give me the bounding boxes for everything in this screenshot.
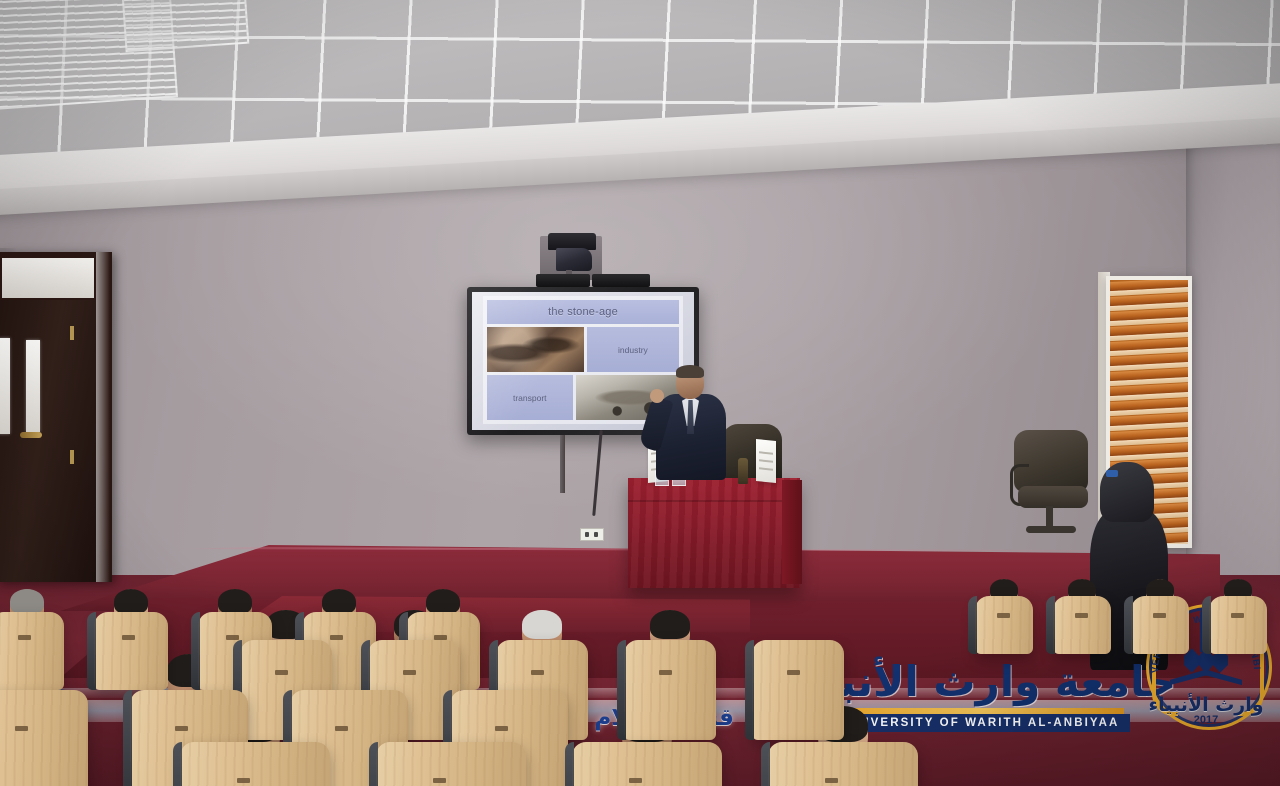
door-glass-panel: [0, 338, 10, 434]
office-chair-seat: [1018, 486, 1088, 508]
door-handle-icon[interactable]: [20, 432, 42, 438]
auditorium-seat[interactable]: [768, 742, 918, 786]
water-bottle: [738, 458, 748, 484]
wall-soundbar-left: [536, 274, 590, 287]
audience-member-hair: [218, 589, 252, 614]
slide-label-industry: industry: [587, 327, 679, 372]
wall-soundbar-right: [592, 274, 650, 287]
door-jamb-light: [96, 252, 110, 582]
seat-tag: [1231, 613, 1244, 618]
door-hinge-2: [70, 450, 74, 464]
cave-painting-photo: [487, 327, 584, 372]
door-transom-glass: [2, 258, 94, 298]
office-chair-base: [1026, 526, 1076, 533]
seat-tag: [531, 670, 544, 675]
seat-tag: [122, 635, 135, 640]
university-name-arabic: جامعة وارث الأنبياء: [826, 648, 1136, 714]
auditorium-seat[interactable]: [752, 640, 844, 740]
seat-tag: [495, 726, 508, 731]
seat-tag: [997, 613, 1010, 618]
auditorium-seat[interactable]: [572, 742, 722, 786]
auditorium-seat[interactable]: [0, 690, 88, 786]
seat-tag: [403, 670, 416, 675]
audience-member-hair: [114, 589, 148, 614]
table-name-card-2: [756, 439, 776, 483]
university-wordmark: جامعة وارث الأنبياء UNIVERSITY OF WARITH…: [826, 648, 1136, 744]
audience-member-hair: [522, 610, 561, 639]
auditorium-seat[interactable]: [180, 742, 330, 786]
auditorium-seat[interactable]: [975, 596, 1033, 654]
door-glass-panel-2: [26, 340, 40, 432]
auditorium-seat[interactable]: [376, 742, 526, 786]
screen-stand: [560, 435, 565, 493]
seat-tag: [237, 778, 250, 783]
podium-table-side: [782, 480, 802, 584]
auditorium-seat[interactable]: [1053, 596, 1111, 654]
university-name-english: UNIVERSITY OF WARITH AL-ANBIYAA: [834, 714, 1130, 732]
seat-tag: [18, 635, 31, 640]
presenter-hand: [650, 389, 664, 403]
podium-table: [628, 478, 800, 588]
seat-tag: [1153, 613, 1166, 618]
seat-tag: [1075, 613, 1088, 618]
seat-tag: [175, 726, 188, 731]
auditorium-seat[interactable]: [1131, 596, 1189, 654]
audience-member-hair: [426, 589, 460, 614]
slide-row-top: industry: [487, 327, 679, 372]
auditorium-seat[interactable]: [0, 612, 64, 690]
audience-member-hair: [10, 589, 44, 614]
seat-tag: [330, 635, 343, 640]
wall-outlet: [580, 528, 604, 541]
auditorium-seat[interactable]: [1209, 596, 1267, 654]
seat-tag: [335, 726, 348, 731]
seat-tag: [825, 778, 838, 783]
ceiling-light-fixture-2: [119, 0, 250, 52]
audience-member-hair: [650, 610, 689, 639]
seat-tag: [275, 670, 288, 675]
presenter-hair: [676, 365, 704, 378]
auditorium-seat[interactable]: [94, 612, 168, 690]
seat-tag: [15, 726, 28, 731]
seat-tag: [433, 778, 446, 783]
hair-clip: [1106, 470, 1118, 477]
slide-label-transport: transport: [487, 375, 573, 420]
seat-tag: [787, 670, 800, 675]
projector-lens-icon: [556, 248, 592, 271]
seat-tag: [659, 670, 672, 675]
slide-title: the stone-age: [487, 300, 679, 324]
emblem-year: 2017: [1184, 712, 1228, 728]
auditorium-seat[interactable]: [624, 640, 716, 740]
lecture-hall-photograph: the stone-age industry transport: [0, 0, 1280, 786]
entrance-door[interactable]: [0, 300, 98, 582]
seat-tag: [629, 778, 642, 783]
audience-member-hair: [322, 589, 356, 614]
seat-tag: [226, 635, 239, 640]
door-hinge: [70, 326, 74, 340]
